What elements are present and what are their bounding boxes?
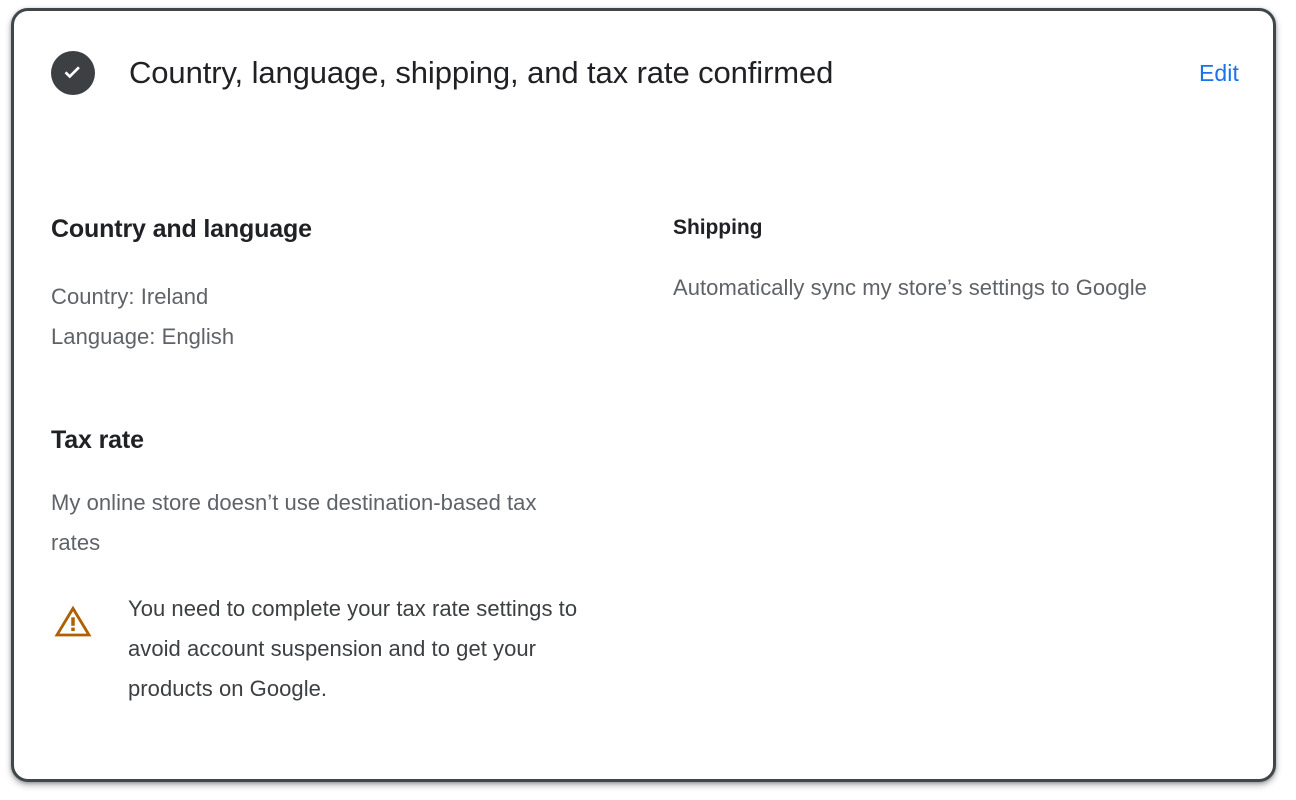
check-circle-filled-icon <box>51 51 95 95</box>
tax-rate-heading: Tax rate <box>51 424 144 456</box>
country-value: Country: Ireland <box>51 277 234 317</box>
edit-button[interactable]: Edit <box>1195 57 1243 89</box>
language-value: Language: English <box>51 317 234 357</box>
page-title: Country, language, shipping, and tax rat… <box>129 54 1195 92</box>
country-and-language-heading: Country and language <box>51 213 312 245</box>
country-and-language-values: Country: Ireland Language: English <box>51 277 234 357</box>
shipping-heading: Shipping <box>673 214 762 242</box>
shipping-value: Automatically sync my store’s settings t… <box>673 268 1213 308</box>
card-body: Country and language Country: Ireland La… <box>14 131 1273 779</box>
tax-rate-warning: You need to complete your tax rate setti… <box>51 589 611 709</box>
card-header: Country, language, shipping, and tax rat… <box>14 11 1273 131</box>
warning-triangle-icon <box>51 599 95 643</box>
tax-rate-value: My online store doesn’t use destination-… <box>51 483 591 563</box>
tax-rate-warning-text: You need to complete your tax rate setti… <box>128 589 611 709</box>
confirmation-card: Country, language, shipping, and tax rat… <box>11 8 1276 782</box>
